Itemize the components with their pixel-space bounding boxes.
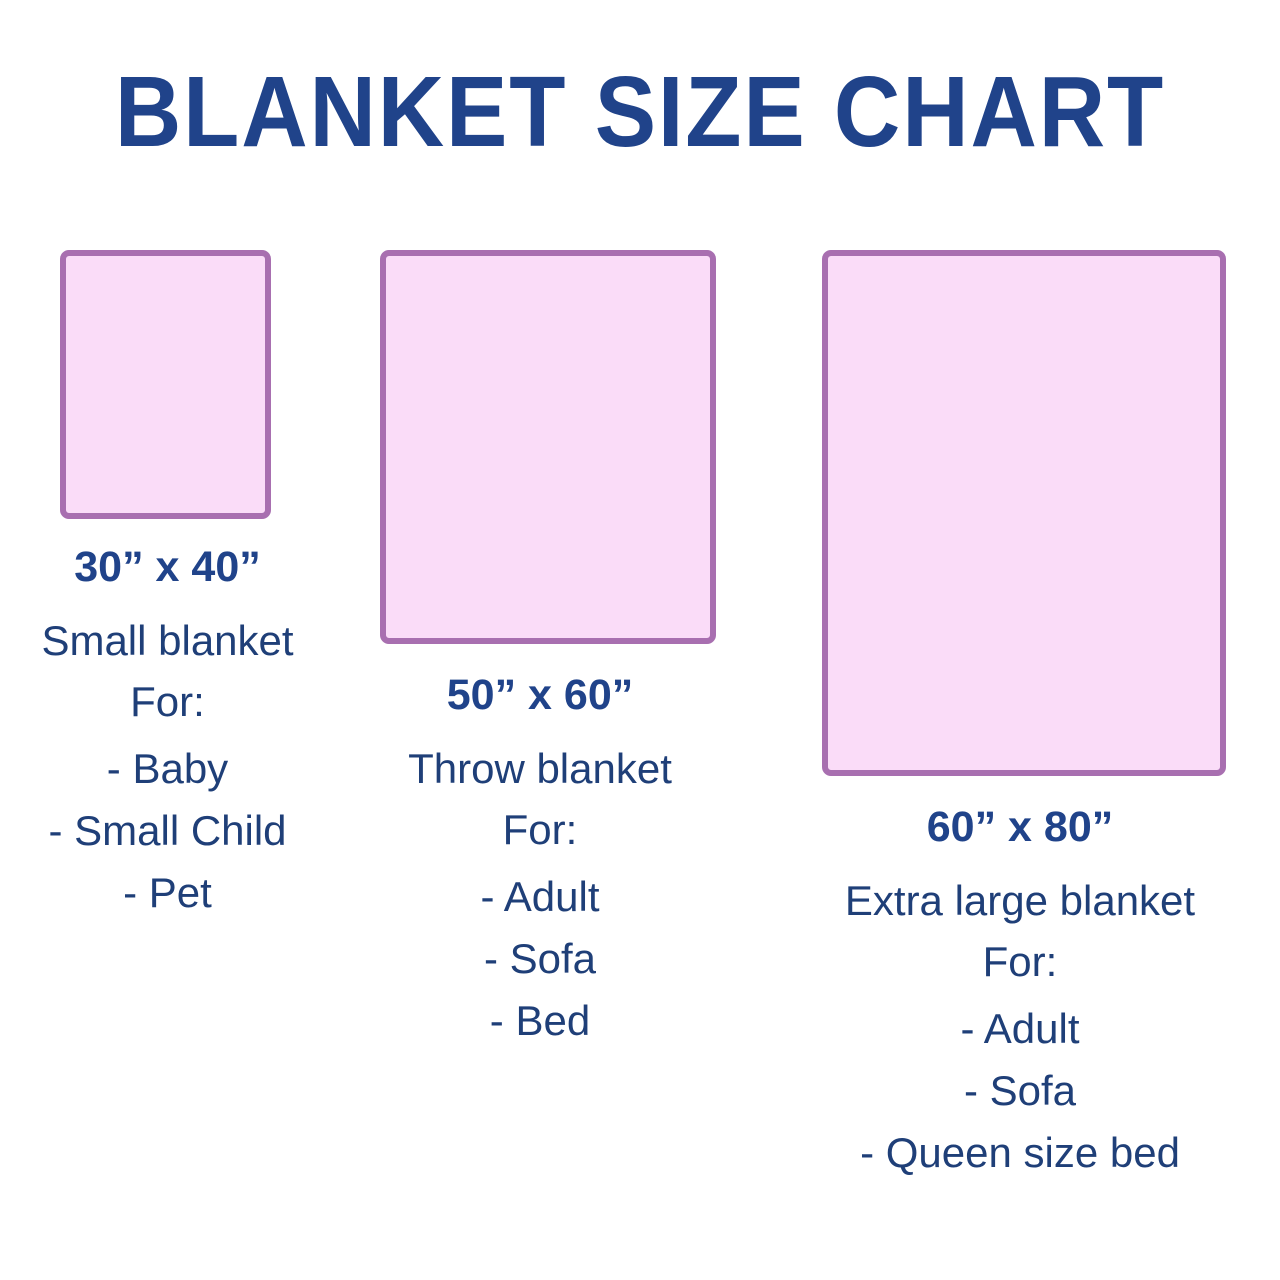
caption-extra-large: 60” x 80” Extra large blanket For: - Adu…: [760, 796, 1280, 1184]
type-label-small: Small blanket: [0, 610, 335, 672]
list-item: - Pet: [0, 862, 335, 924]
caption-small: 30” x 40” Small blanket For: - Baby - Sm…: [0, 536, 335, 924]
type-label-extra-large: Extra large blanket: [760, 870, 1280, 932]
size-label-small: 30” x 40”: [0, 536, 335, 598]
use-list-extra-large: - Adult - Sofa - Queen size bed: [760, 998, 1280, 1184]
list-item: - Baby: [0, 738, 335, 800]
blanket-size-chart: BLANKET SIZE CHART 30” x 40” Small blank…: [0, 0, 1280, 1280]
size-columns: 30” x 40” Small blanket For: - Baby - Sm…: [0, 0, 1280, 1280]
for-label-throw: For:: [345, 800, 735, 860]
blanket-swatch-throw: [380, 250, 716, 644]
list-item: - Sofa: [760, 1060, 1280, 1122]
list-item: - Bed: [345, 990, 735, 1052]
type-label-throw: Throw blanket: [345, 738, 735, 800]
list-item: - Queen size bed: [760, 1122, 1280, 1184]
blanket-swatch-extra-large: [822, 250, 1226, 776]
blanket-swatch-small: [60, 250, 271, 519]
size-label-extra-large: 60” x 80”: [760, 796, 1280, 858]
size-label-throw: 50” x 60”: [345, 664, 735, 726]
use-list-small: - Baby - Small Child - Pet: [0, 738, 335, 924]
for-label-small: For:: [0, 672, 335, 732]
list-item: - Sofa: [345, 928, 735, 990]
caption-throw: 50” x 60” Throw blanket For: - Adult - S…: [345, 664, 735, 1052]
for-label-extra-large: For:: [760, 932, 1280, 992]
use-list-throw: - Adult - Sofa - Bed: [345, 866, 735, 1052]
list-item: - Small Child: [0, 800, 335, 862]
list-item: - Adult: [760, 998, 1280, 1060]
list-item: - Adult: [345, 866, 735, 928]
